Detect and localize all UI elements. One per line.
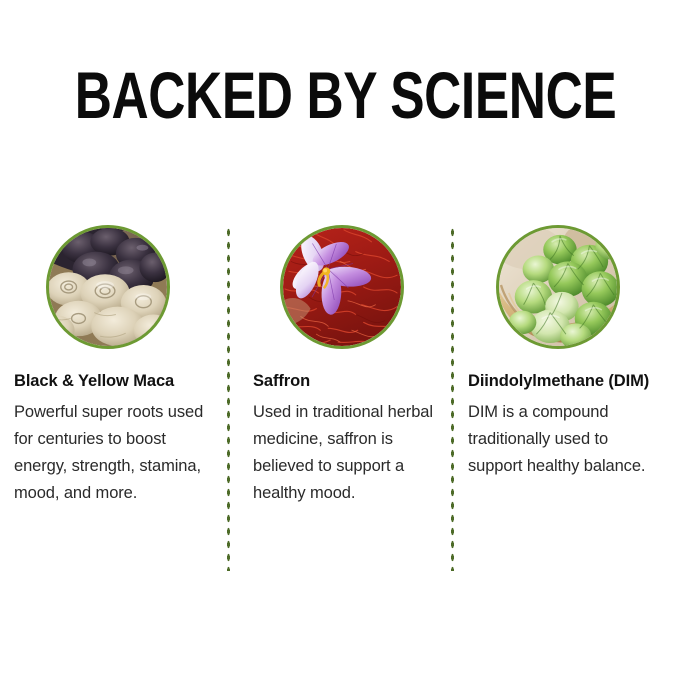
ingredient-column-dim: Diindolylmethane (DIM) DIM is a compound… bbox=[468, 225, 664, 480]
ingredient-name-dim: Diindolylmethane (DIM) bbox=[468, 371, 664, 392]
brussels-sprouts-photo-frame bbox=[496, 225, 620, 349]
saffron-photo-frame bbox=[280, 225, 404, 349]
maca-roots-photo bbox=[49, 228, 167, 346]
ingredient-column-maca: Black & Yellow Maca Powerful super roots… bbox=[14, 225, 214, 507]
ingredient-name-saffron: Saffron bbox=[253, 371, 433, 392]
maca-roots-photo-frame bbox=[46, 225, 170, 349]
saffron-photo bbox=[283, 228, 401, 346]
dotted-divider-left bbox=[226, 226, 231, 571]
ingredient-columns: Black & Yellow Maca Powerful super roots… bbox=[0, 225, 679, 575]
backed-by-science-infographic: BACKED BY SCIENCE bbox=[0, 0, 679, 679]
ingredient-description-saffron: Used in traditional herbal medicine, saf… bbox=[253, 399, 433, 507]
dotted-divider-right bbox=[450, 226, 455, 571]
ingredient-description-maca: Powerful super roots used for centuries … bbox=[14, 399, 214, 507]
ingredient-description-dim: DIM is a compound traditionally used to … bbox=[468, 399, 664, 480]
ingredient-column-saffron: Saffron Used in traditional herbal medic… bbox=[253, 225, 433, 507]
ingredient-name-maca: Black & Yellow Maca bbox=[14, 371, 214, 392]
page-title: BACKED BY SCIENCE bbox=[75, 62, 605, 128]
brussels-sprouts-photo bbox=[499, 228, 617, 346]
